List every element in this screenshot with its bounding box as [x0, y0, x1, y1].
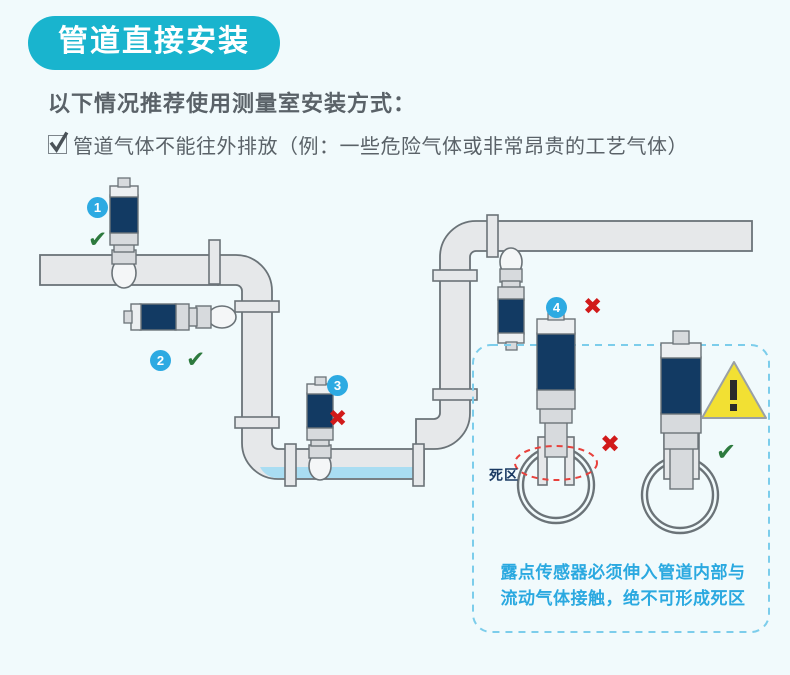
- step-badge-2: 2: [150, 350, 171, 371]
- inset-cross-mark: ✖: [600, 433, 620, 457]
- inset-caption-line-2: 流动气体接触，绝不可形成死区: [473, 586, 773, 612]
- step-badge-1: 1: [87, 197, 108, 218]
- checkbox-checked-icon: [48, 135, 67, 154]
- inset-sensor-good: [642, 331, 718, 533]
- inset-check-mark: ✔: [716, 441, 736, 465]
- bullet-label: 管道气体不能往外排放（例：一些危险气体或非常昂贵的工艺气体）: [73, 130, 688, 159]
- sensor-2: [124, 304, 236, 330]
- sensor-4: [498, 248, 524, 350]
- check-mark-1: ✔: [88, 228, 107, 251]
- sensor-1: [110, 178, 138, 288]
- subtitle: 以下情况推荐使用测量室安装方式：: [48, 86, 416, 118]
- inset-caption-line-1: 露点传感器必须伸入管道内部与: [473, 560, 773, 586]
- pipe-network: [40, 215, 752, 486]
- warning-triangle-icon: [702, 362, 766, 418]
- installation-diagram: 1 ✔ 2 ✔ 3 ✖ 4 ✖ ✖ ✔ 死区 露点传感器必须伸入管道内部与 流动…: [0, 175, 790, 670]
- cross-mark-4: ✖: [583, 295, 602, 318]
- check-mark-2: ✔: [186, 348, 205, 371]
- step-badge-3: 3: [327, 375, 348, 396]
- bullet-item: 管道气体不能往外排放（例：一些危险气体或非常昂贵的工艺气体）: [48, 130, 688, 159]
- page-title-badge: 管道直接安装: [28, 16, 280, 70]
- inset-caption: 露点传感器必须伸入管道内部与 流动气体接触，绝不可形成死区: [473, 560, 773, 611]
- deadzone-label: 死区: [489, 465, 519, 485]
- step-badge-4: 4: [546, 297, 567, 318]
- inset-sensor-bad: [515, 307, 597, 523]
- cross-mark-3: ✖: [328, 407, 347, 430]
